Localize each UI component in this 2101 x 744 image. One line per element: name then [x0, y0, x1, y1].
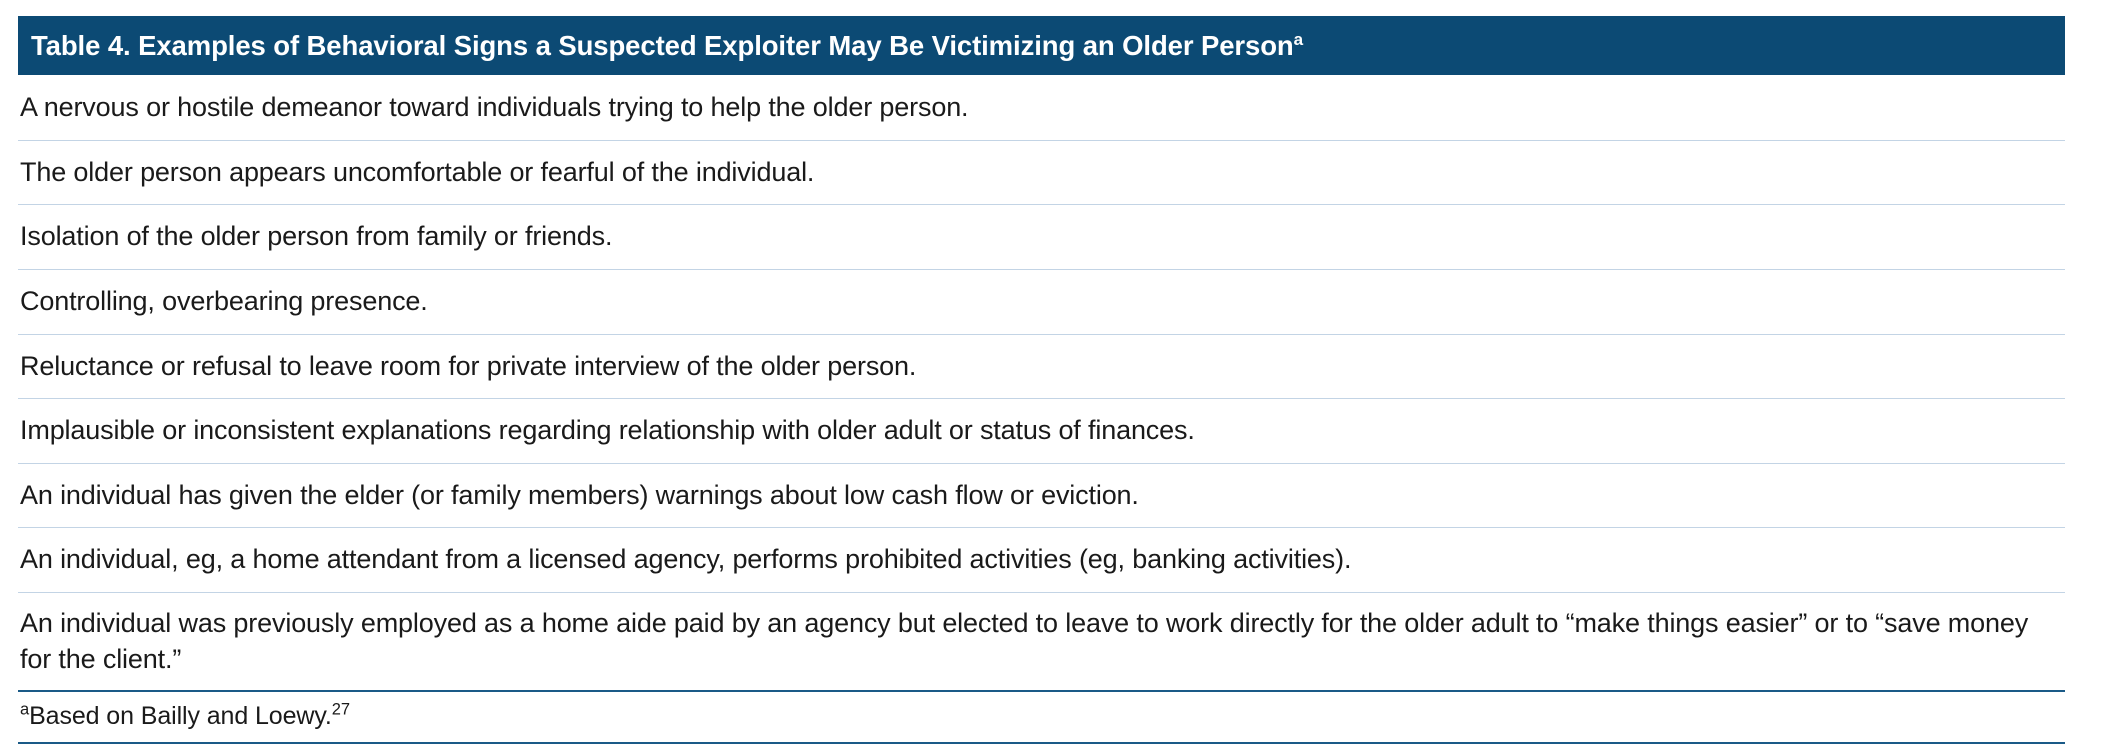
- table-row: An individual was previously employed as…: [18, 593, 2065, 692]
- table-row-text: Implausible or inconsistent explanations…: [20, 413, 1195, 449]
- table-row: An individual has given the elder (or fa…: [18, 464, 2065, 529]
- table-row-text: Controlling, overbearing presence.: [20, 284, 428, 320]
- table-body: A nervous or hostile demeanor toward ind…: [18, 75, 2065, 692]
- table-row-text: Reluctance or refusal to leave room for …: [20, 349, 916, 385]
- table-row: An individual, eg, a home attendant from…: [18, 528, 2065, 593]
- table-row: Controlling, overbearing presence.: [18, 270, 2065, 335]
- table-row: Isolation of the older person from famil…: [18, 205, 2065, 270]
- table-row: A nervous or hostile demeanor toward ind…: [18, 75, 2065, 141]
- table-row-text: A nervous or hostile demeanor toward ind…: [20, 90, 968, 126]
- table-row: The older person appears uncomfortable o…: [18, 141, 2065, 206]
- footnote-text: Based on Bailly and Loewy.: [29, 702, 332, 730]
- table-title: Table 4. Examples of Behavioral Signs a …: [31, 32, 1303, 60]
- table-footnote: aBased on Bailly and Loewy.27: [18, 692, 2065, 743]
- footnote-line: aBased on Bailly and Loewy.27: [20, 702, 350, 730]
- table-row-text: An individual, eg, a home attendant from…: [20, 542, 1351, 578]
- table-row-text: An individual has given the elder (or fa…: [20, 478, 1139, 514]
- table-row: Reluctance or refusal to leave room for …: [18, 335, 2065, 400]
- table-row: Implausible or inconsistent explanations…: [18, 399, 2065, 464]
- table-header-bar: Table 4. Examples of Behavioral Signs a …: [18, 16, 2065, 75]
- footnote-marker: a: [20, 701, 29, 719]
- table-row-text: Isolation of the older person from famil…: [20, 219, 612, 255]
- table-row-text: The older person appears uncomfortable o…: [20, 155, 814, 191]
- table-title-text: Table 4. Examples of Behavioral Signs a …: [31, 30, 1294, 61]
- footnote-reference-number: 27: [332, 701, 350, 719]
- table-title-footnote-marker: a: [1294, 30, 1303, 49]
- table-row-text: An individual was previously employed as…: [20, 606, 2063, 677]
- table-container: Table 4. Examples of Behavioral Signs a …: [0, 0, 2101, 716]
